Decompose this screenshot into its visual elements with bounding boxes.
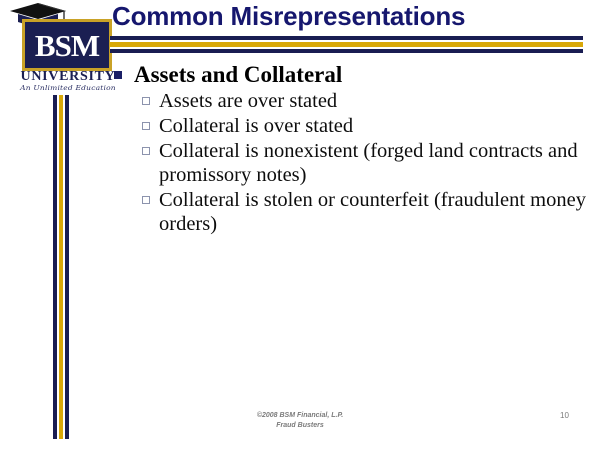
bullet-item-level2: Collateral is nonexistent (forged land c… bbox=[142, 139, 590, 187]
page-number: 10 bbox=[560, 411, 584, 421]
page-title: Common Misrepresentations bbox=[112, 1, 590, 31]
bullet-item-level1: Assets and Collateral bbox=[112, 61, 590, 88]
bullet-text: Assets are over stated bbox=[159, 89, 590, 113]
logo-monogram-box: BSM bbox=[22, 19, 112, 71]
hollow-square-bullet-icon bbox=[142, 97, 150, 105]
title-divider bbox=[110, 36, 583, 54]
bsm-university-logo: BSM UNIVERSITY An Unlimited Education bbox=[6, 2, 124, 97]
filled-square-bullet-icon bbox=[114, 71, 122, 79]
slide-canvas: BSM UNIVERSITY An Unlimited Education Co… bbox=[0, 0, 600, 449]
footer-subtitle-line: Fraud Busters bbox=[210, 421, 390, 431]
bullet-item-level2: Collateral is over stated bbox=[142, 114, 590, 138]
bullet-text: Assets and Collateral bbox=[134, 62, 342, 87]
bullet-text: Collateral is stolen or counterfeit (fra… bbox=[159, 188, 590, 236]
logo-tagline-text: An Unlimited Education bbox=[16, 84, 120, 91]
logo-institution-text: UNIVERSITY bbox=[20, 70, 116, 84]
bullet-text: Collateral is over stated bbox=[159, 114, 590, 138]
stripe-navy-right bbox=[65, 95, 69, 439]
hollow-square-bullet-icon bbox=[142, 196, 150, 204]
bullet-text: Collateral is nonexistent (forged land c… bbox=[159, 139, 590, 187]
footer-copyright-line: ©2008 BSM Financial, L.P. bbox=[210, 411, 390, 421]
slide-body: Assets and Collateral Assets are over st… bbox=[112, 61, 590, 236]
bullet-item-level2: Collateral is stolen or counterfeit (fra… bbox=[142, 188, 590, 236]
footer-credit: ©2008 BSM Financial, L.P. Fraud Busters bbox=[210, 411, 390, 431]
left-accent-stripes bbox=[53, 95, 69, 439]
hollow-square-bullet-icon bbox=[142, 147, 150, 155]
hollow-square-bullet-icon bbox=[142, 122, 150, 130]
bullet-item-level2: Assets are over stated bbox=[142, 89, 590, 113]
logo-monogram-text: BSM bbox=[25, 22, 109, 68]
divider-band-navy-bottom bbox=[110, 49, 583, 53]
